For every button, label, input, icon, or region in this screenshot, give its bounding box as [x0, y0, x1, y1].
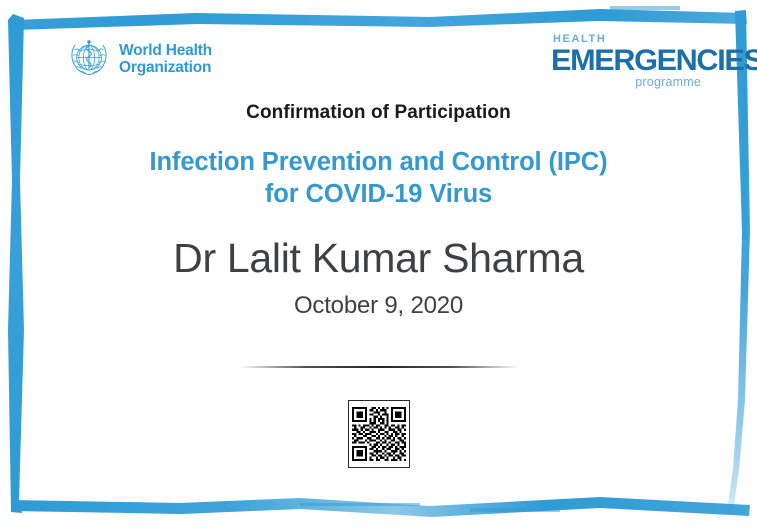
who-wordmark-line2: Organization: [119, 59, 212, 76]
course-title: Infection Prevention and Control (IPC) f…: [30, 146, 727, 210]
confirmation-heading: Confirmation of Participation: [30, 102, 727, 124]
course-title-line1: Infection Prevention and Control (IPC): [30, 146, 727, 178]
border-right-stroke: [727, 10, 750, 512]
emergencies-main-text: EMERGENCIES: [551, 46, 710, 76]
who-logo: World Health Organization: [66, 36, 212, 82]
issue-date: October 9, 2020: [30, 292, 727, 320]
logo-row: World Health Organization HEALTH EMERGEN…: [30, 24, 727, 96]
certificate: World Health Organization HEALTH EMERGEN…: [0, 0, 757, 528]
certificate-content: World Health Organization HEALTH EMERGEN…: [30, 24, 727, 504]
who-wordmark: World Health Organization: [119, 42, 212, 76]
health-emergencies-logo: HEALTH EMERGENCIES programme: [551, 34, 707, 89]
qr-code[interactable]: [348, 400, 410, 468]
qr-code-image: [352, 404, 406, 464]
emergencies-programme-text: programme: [551, 76, 701, 89]
recipient-name: Dr Lalit Kumar Sharma: [30, 234, 727, 282]
who-wordmark-line1: World Health: [119, 42, 212, 59]
section-divider: [239, 366, 519, 368]
who-emblem-icon: [66, 36, 112, 82]
course-title-line2: for COVID-19 Virus: [30, 178, 727, 210]
border-left-stroke: [8, 14, 24, 513]
